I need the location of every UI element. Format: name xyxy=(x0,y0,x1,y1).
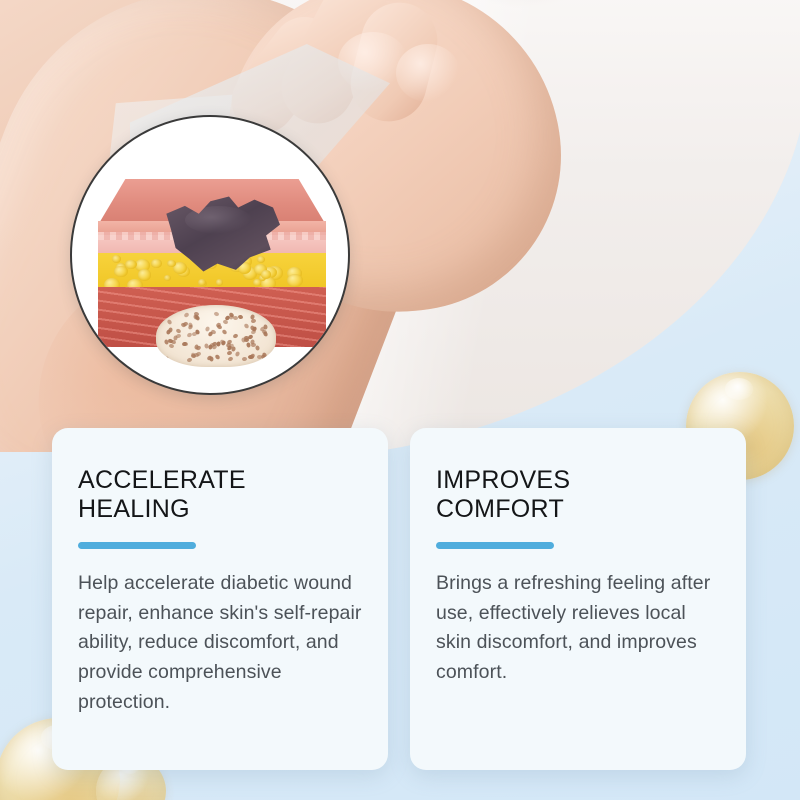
feature-card-improves-comfort: IMPROVES COMFORT Brings a refreshing fee… xyxy=(410,428,746,770)
bone-layer xyxy=(156,305,276,367)
feature-card-title: ACCELERATE HEALING xyxy=(78,466,362,524)
accent-divider xyxy=(78,542,196,549)
feature-card-body: Brings a refreshing feeling after use, e… xyxy=(436,569,720,688)
skin-cross-section-diagram xyxy=(98,179,326,347)
skin-cross-section-inset xyxy=(70,115,350,395)
knuckle-highlight xyxy=(396,44,460,102)
feature-card-accelerate-healing: ACCELERATE HEALING Help accelerate diabe… xyxy=(52,428,388,770)
promo-banner: ACCELERATE HEALING Help accelerate diabe… xyxy=(0,0,800,800)
bone-marrow xyxy=(156,305,276,367)
feature-card-title: IMPROVES COMFORT xyxy=(436,466,720,524)
feature-card-body: Help accelerate diabetic wound repair, e… xyxy=(78,569,362,717)
feature-card-list: ACCELERATE HEALING Help accelerate diabe… xyxy=(52,428,752,770)
accent-divider xyxy=(436,542,554,549)
